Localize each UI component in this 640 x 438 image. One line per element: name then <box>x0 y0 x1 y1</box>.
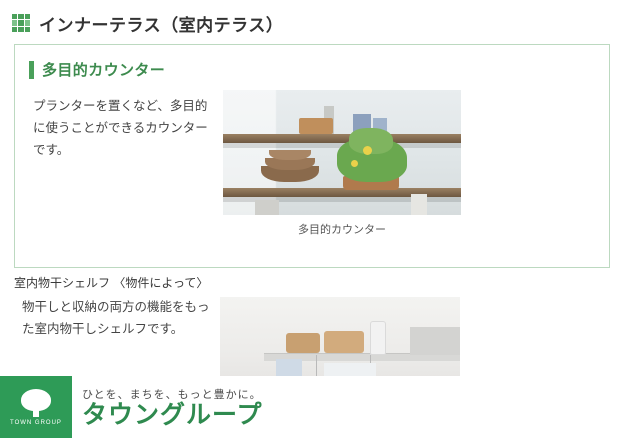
flower <box>351 160 358 167</box>
footer-tagline: ひとを、まちを、もっと豊かに。 <box>82 386 263 402</box>
card-body: プランターを置くなど、多目的に使うことができるカウンターです。 <box>15 80 609 237</box>
storage-basket <box>286 333 320 353</box>
footer-bar: TOWN GROUP ひとを、まちを、もっと豊かに。 タウングループ <box>0 376 640 438</box>
shelf-board <box>410 327 460 355</box>
footer-text-block: ひとを、まちを、もっと豊かに。 タウングループ <box>72 386 263 428</box>
page-root: インナーテラス（室内テラス） 多目的カウンター プランターを置くなど、多目的に使… <box>0 0 640 438</box>
tree-icon <box>19 389 53 419</box>
grid-icon <box>12 14 30 32</box>
flower <box>363 146 372 155</box>
footer-brand: タウングループ <box>82 402 263 428</box>
card-title-row: 多目的カウンター <box>15 45 609 80</box>
storage-basket <box>324 331 364 353</box>
decor-object <box>255 200 279 215</box>
counter-card: 多目的カウンター プランターを置くなど、多目的に使うことができるカウンターです。 <box>14 44 610 268</box>
title-accent-bar <box>29 61 34 79</box>
logo-subtext: TOWN GROUP <box>10 420 62 426</box>
photo-caption: 多目的カウンター <box>223 221 461 237</box>
card-description: プランターを置くなど、多目的に使うことができるカウンターです。 <box>33 90 213 237</box>
card-title: 多目的カウンター <box>42 59 165 80</box>
decor-object <box>411 194 427 215</box>
shelf-upper <box>223 134 461 143</box>
detergent-bottle <box>370 321 386 355</box>
company-logo[interactable]: TOWN GROUP <box>0 376 72 438</box>
page-title: インナーテラス（室内テラス） <box>39 11 283 36</box>
wooden-tray <box>299 118 333 134</box>
counter-photo-column: 多目的カウンター <box>223 90 461 237</box>
shelf-section-title: 室内物干シェルフ 〈物件によって〉 <box>14 274 626 291</box>
counter-photo <box>223 90 461 215</box>
page-header: インナーテラス（室内テラス） <box>0 0 640 44</box>
